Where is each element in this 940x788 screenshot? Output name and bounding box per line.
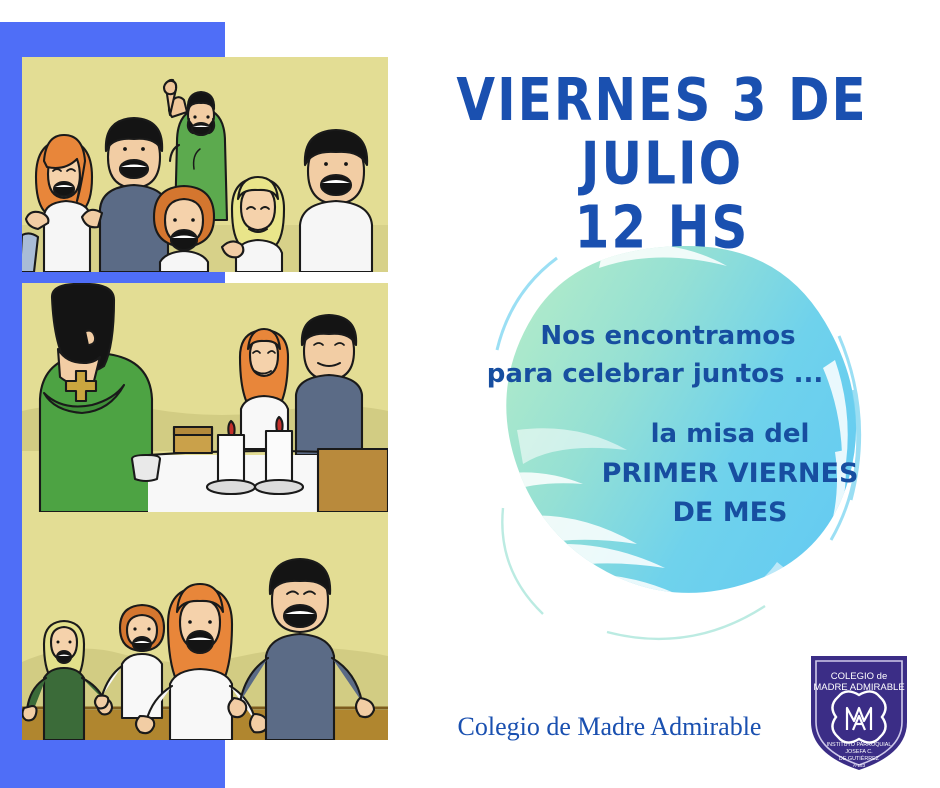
headline-line-1: VIERNES 3 DE JULIO [392,68,932,195]
photo-family-singing-with-open-arms [22,512,388,740]
body-line-4: PRIMER VIERNES [420,454,890,493]
logo-top-line-1: COLEGIO de [831,671,888,682]
body-spacer [420,394,890,416]
logo-bottom-line-2: JOSEFA C. [845,749,872,755]
body-line-1: Nos encontramos [420,318,890,356]
photo-strip [22,57,388,740]
photo-group-celebrating-with-priest [22,57,388,272]
body-text: Nos encontramos para celebrar juntos ...… [420,318,890,533]
school-shield-logo: COLEGIO de MADRE ADMIRABLE INSTITUTO PAR… [803,650,915,772]
logo-bottom-line-1: INSTITUTO PARROQUIAL [827,742,892,748]
footer-caption: Colegio de Madre Admirable [432,712,787,742]
body-line-5: DE MES [420,493,890,532]
poster-canvas: VIERNES 3 DE JULIO 12 HS [0,0,940,788]
logo-top-line-2: MADRE ADMIRABLE [813,682,904,693]
photo-priest-at-altar-with-candles [22,283,388,512]
body-line-3: la misa del [420,416,890,454]
body-line-2: para celebrar juntos ... [420,356,890,394]
logo-bottom-line-3: DE GUTIÉRREZ [839,755,880,762]
logo-bottom-line-4: A-153 [853,763,866,768]
headline: VIERNES 3 DE JULIO 12 HS [392,68,932,259]
